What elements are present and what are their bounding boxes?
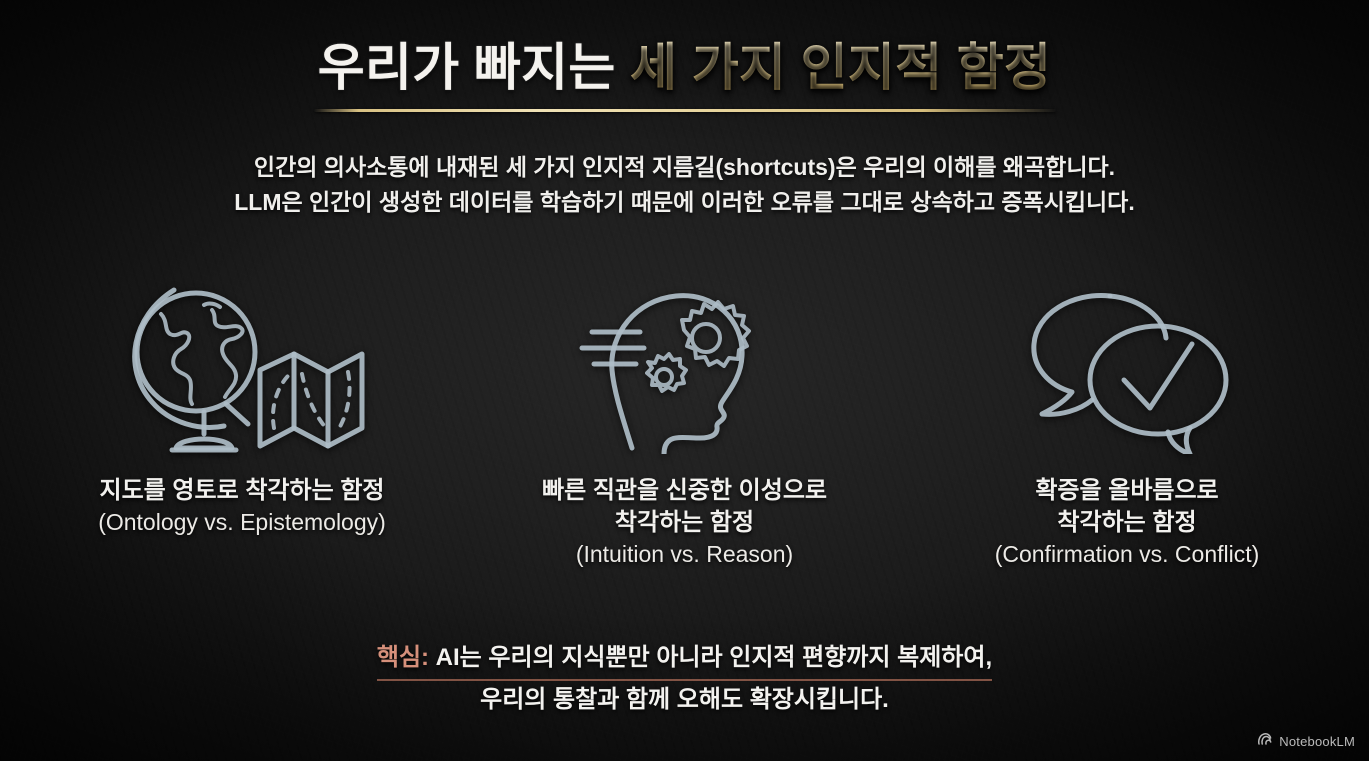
caption-line-ko: 지도를 영토로 착각하는 함정 — [98, 475, 386, 507]
subtitle-block: 인간의 의사소통에 내재된 세 가지 인지적 지름길(shortcuts)은 우… — [0, 150, 1369, 220]
trap-card-ontology: 지도를 영토로 착각하는 함정 (Ontology vs. Epistemolo… — [32, 272, 452, 537]
title-underline-rule — [314, 109, 1056, 112]
key-takeaway-block: 핵심: AI는 우리의 지식뿐만 아니라 인지적 편향까지 복제하여, 우리의 … — [0, 639, 1369, 719]
caption-line-en: (Confirmation vs. Conflict) — [995, 539, 1260, 570]
trap-card-ontology-caption: 지도를 영토로 착각하는 함정 (Ontology vs. Epistemolo… — [98, 475, 386, 537]
key-takeaway-label: 핵심: — [377, 644, 429, 671]
page-title-gold-part: 세 가지 인지적 함정 — [630, 39, 1051, 96]
head-with-gears-icon — [578, 272, 792, 457]
globe-and-map-icon — [108, 272, 376, 457]
subtitle-line-2: LLM은 인간이 생성한 데이터를 학습하기 때문에 이러한 오류를 그대로 상… — [0, 185, 1369, 220]
slide-canvas: 우리가 빠지는 세 가지 인지적 함정 인간의 의사소통에 내재된 세 가지 인… — [0, 0, 1369, 761]
key-takeaway-line-2: 우리의 통찰과 함께 오해도 확장시킵니다. — [0, 681, 1369, 719]
caption-line-ko: 확증을 올바름으로 — [995, 475, 1260, 507]
trap-card-row: 지도를 영토로 착각하는 함정 (Ontology vs. Epistemolo… — [32, 272, 1337, 569]
caption-line-ko-2: 착각하는 함정 — [995, 507, 1260, 539]
trap-card-confirmation-caption: 확증을 올바름으로 착각하는 함정 (Confirmation vs. Conf… — [995, 475, 1260, 569]
caption-line-en: (Ontology vs. Epistemology) — [98, 507, 386, 538]
page-title-white-part: 우리가 빠지는 — [318, 39, 630, 96]
caption-line-en: (Intuition vs. Reason) — [542, 539, 827, 570]
caption-line-ko-2: 착각하는 함정 — [542, 507, 827, 539]
trap-card-intuition-caption: 빠른 직관을 신중한 이성으로 착각하는 함정 (Intuition vs. R… — [542, 475, 827, 569]
key-takeaway-line-1: 핵심: AI는 우리의 지식뿐만 아니라 인지적 편향까지 복제하여, — [0, 639, 1369, 681]
page-title: 우리가 빠지는 세 가지 인지적 함정 — [0, 40, 1369, 95]
caption-line-ko: 빠른 직관을 신중한 이성으로 — [542, 475, 827, 507]
trap-card-intuition: 빠른 직관을 신중한 이성으로 착각하는 함정 (Intuition vs. R… — [475, 272, 895, 569]
key-takeaway-line-1-text: AI는 우리의 지식뿐만 아니라 인지적 편향까지 복제하여, — [429, 644, 992, 671]
notebooklm-watermark: NotebookLM — [1257, 732, 1355, 751]
subtitle-line-1: 인간의 의사소통에 내재된 세 가지 인지적 지름길(shortcuts)은 우… — [0, 150, 1369, 185]
title-block: 우리가 빠지는 세 가지 인지적 함정 — [0, 40, 1369, 112]
notebooklm-watermark-text: NotebookLM — [1279, 734, 1355, 749]
trap-card-confirmation: 확증을 올바름으로 착각하는 함정 (Confirmation vs. Conf… — [917, 272, 1337, 569]
speech-bubbles-check-icon — [1014, 272, 1240, 457]
notebooklm-spiral-icon — [1257, 732, 1273, 751]
